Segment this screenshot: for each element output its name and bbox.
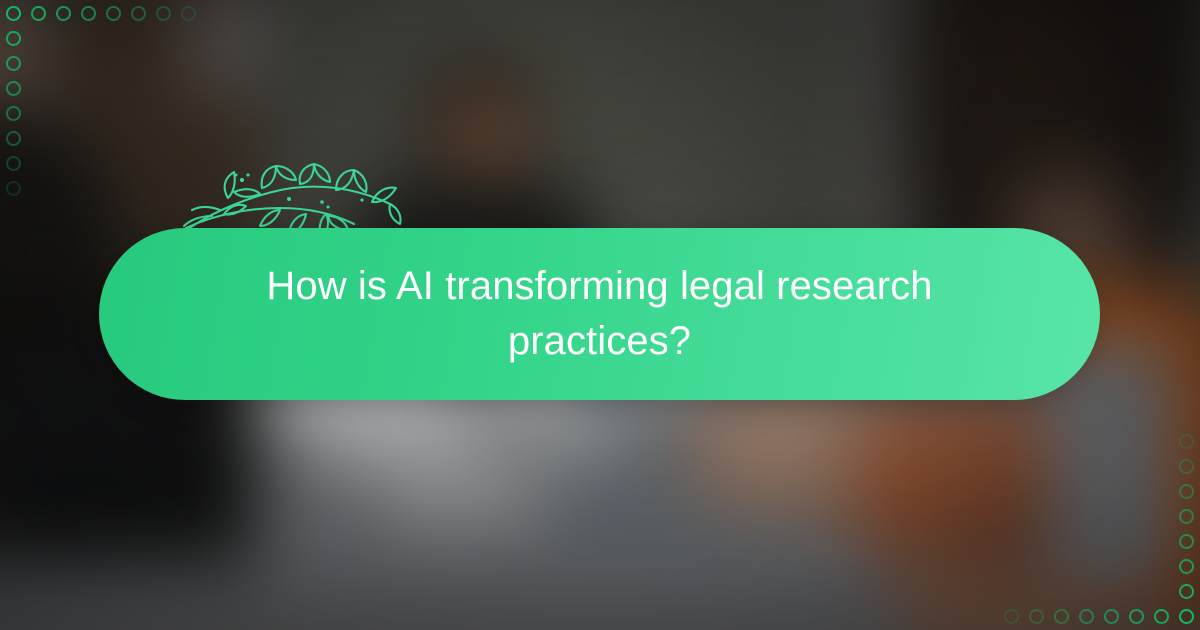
- pattern-circle-icon: [1079, 609, 1094, 624]
- pattern-circle-icon: [56, 6, 71, 21]
- pattern-circle-icon: [6, 181, 21, 196]
- pattern-circle-icon: [6, 156, 21, 171]
- pattern-circle-icon: [1154, 609, 1169, 624]
- pattern-circle-icon: [6, 106, 21, 121]
- pattern-circle-icon: [1029, 609, 1044, 624]
- pattern-circle-icon: [1179, 459, 1194, 474]
- pattern-circle-icon: [1004, 609, 1019, 624]
- corner-dots-bottom-right: [985, 415, 1200, 630]
- pattern-circle-icon: [1104, 609, 1119, 624]
- pattern-circle-icon: [31, 6, 46, 21]
- pattern-circle-icon: [1179, 534, 1194, 549]
- pattern-circle-icon: [81, 6, 96, 21]
- pattern-circle-icon: [1179, 484, 1194, 499]
- pattern-circle-icon: [6, 56, 21, 71]
- pattern-circle-icon: [6, 81, 21, 96]
- question-text: How is AI transforming legal research pr…: [210, 259, 990, 369]
- pattern-circle-icon: [131, 6, 146, 21]
- pattern-circle-icon: [6, 131, 21, 146]
- pattern-circle-icon: [1179, 584, 1194, 599]
- pattern-circle-icon: [6, 6, 21, 21]
- pattern-circle-icon: [1179, 509, 1194, 524]
- pattern-circle-icon: [1179, 434, 1194, 449]
- pattern-circle-icon: [106, 6, 121, 21]
- question-card: How is AI transforming legal research pr…: [99, 228, 1100, 400]
- pattern-circle-icon: [1054, 609, 1069, 624]
- pattern-circle-icon: [6, 31, 21, 46]
- pattern-circle-icon: [1179, 609, 1194, 624]
- pattern-circle-icon: [1129, 609, 1144, 624]
- pattern-circle-icon: [156, 6, 171, 21]
- social-card-canvas: How is AI transforming legal research pr…: [0, 0, 1200, 630]
- pattern-circle-icon: [1179, 559, 1194, 574]
- pattern-circle-icon: [181, 6, 196, 21]
